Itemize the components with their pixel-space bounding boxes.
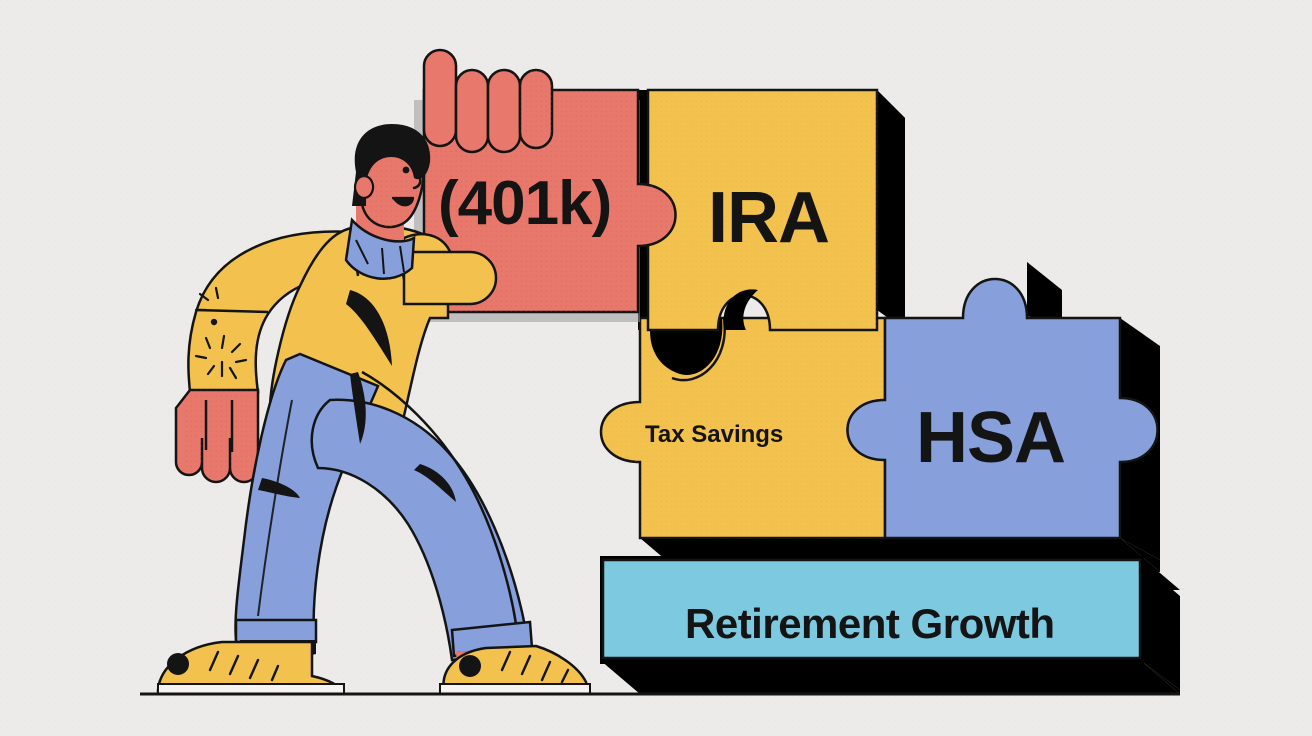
right-shoe-eyelet (459, 655, 481, 677)
finger-3 (488, 70, 520, 152)
pants-cuff-left (236, 620, 316, 642)
base-bar-retirement-growth[interactable]: Retirement Growth (603, 560, 1140, 658)
ira-label: IRA (708, 178, 829, 258)
finger-1 (424, 50, 456, 146)
finger-2 (456, 70, 488, 152)
illustration-svg: Retirement Growth Tax Savings HSA IRA (4… (0, 0, 1312, 736)
right-hand (404, 252, 496, 304)
ear (355, 176, 373, 198)
illustration-canvas: Retirement Growth Tax Savings HSA IRA (4… (0, 0, 1312, 736)
puzzle-piece-hsa[interactable]: HSA (848, 279, 1158, 538)
hsa-label: HSA (916, 398, 1065, 478)
puzzle-piece-tax-savings[interactable]: Tax Savings (601, 318, 885, 538)
piece-401k-label: (401k) (438, 169, 611, 238)
left-shoe-eyelet (167, 653, 189, 675)
eye (403, 167, 410, 174)
base-bar-label: Retirement Growth (685, 600, 1055, 647)
tax-savings-label: Tax Savings (645, 421, 783, 448)
